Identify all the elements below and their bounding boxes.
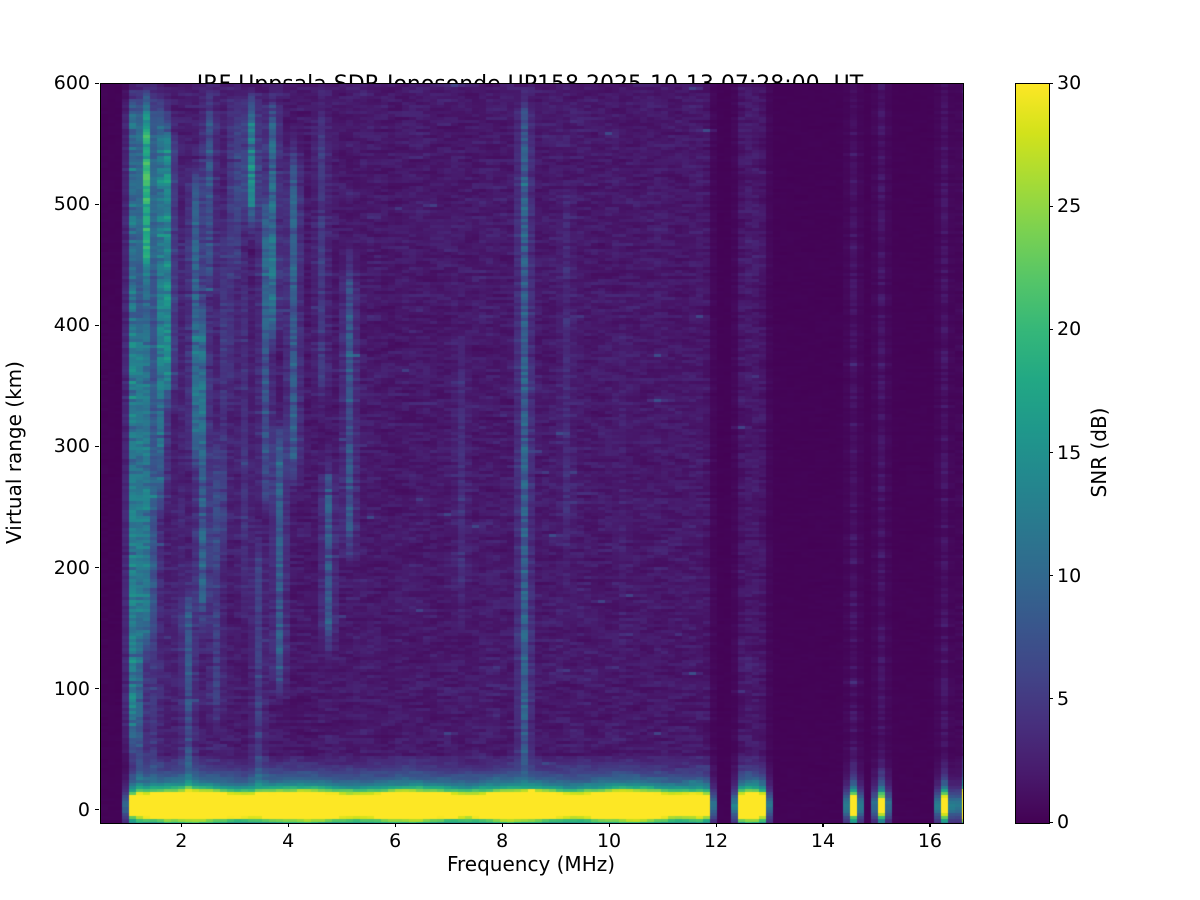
colorbar-tick-label: 0: [1057, 811, 1069, 833]
x-tick-label: 12: [704, 830, 728, 852]
x-tick-mark: [609, 823, 610, 827]
y-tick-mark: [95, 567, 99, 568]
x-tick-label: 6: [389, 830, 401, 852]
x-tick-mark: [395, 823, 396, 827]
x-axis-label: Frequency (MHz): [100, 852, 962, 876]
colorbar-tick-mark: [1049, 822, 1053, 823]
ionogram-heatmap: [101, 84, 963, 823]
colorbar-gradient: [1016, 84, 1049, 823]
x-tick-label: 2: [175, 830, 187, 852]
ionogram-figure: IRF Uppsala SDR Ionosonde UP158 2025-10-…: [0, 0, 1200, 900]
y-tick-mark: [95, 325, 99, 326]
x-tick-mark: [822, 823, 823, 827]
x-tick-mark: [716, 823, 717, 827]
colorbar-label: SNR (dB): [1085, 83, 1113, 822]
x-tick-mark: [929, 823, 930, 827]
colorbar-tick-label: 5: [1057, 688, 1069, 710]
colorbar: [1015, 83, 1050, 824]
colorbar-tick-mark: [1049, 575, 1053, 576]
colorbar-tick-mark: [1049, 83, 1053, 84]
colorbar-tick-label: 10: [1057, 565, 1081, 587]
ionogram-axes: [100, 83, 964, 824]
x-tick-label: 14: [811, 830, 835, 852]
colorbar-tick-mark: [1049, 206, 1053, 207]
colorbar-tick-label: 25: [1057, 195, 1081, 217]
y-axis-label: Virtual range (km): [0, 83, 28, 822]
x-tick-label: 4: [282, 830, 294, 852]
y-tick-mark: [95, 809, 99, 810]
x-tick-label: 16: [918, 830, 942, 852]
x-tick-mark: [181, 823, 182, 827]
colorbar-tick-mark: [1049, 329, 1053, 330]
x-tick-label: 10: [597, 830, 621, 852]
colorbar-tick-label: 15: [1057, 442, 1081, 464]
y-tick-mark: [95, 83, 99, 84]
x-tick-label: 8: [496, 830, 508, 852]
y-tick-mark: [95, 446, 99, 447]
colorbar-tick-label: 20: [1057, 318, 1081, 340]
colorbar-tick-mark: [1049, 452, 1053, 453]
y-tick-mark: [95, 688, 99, 689]
y-tick-mark: [95, 204, 99, 205]
x-tick-mark: [502, 823, 503, 827]
colorbar-tick-label: 30: [1057, 72, 1081, 94]
x-tick-mark: [288, 823, 289, 827]
colorbar-tick-mark: [1049, 698, 1053, 699]
